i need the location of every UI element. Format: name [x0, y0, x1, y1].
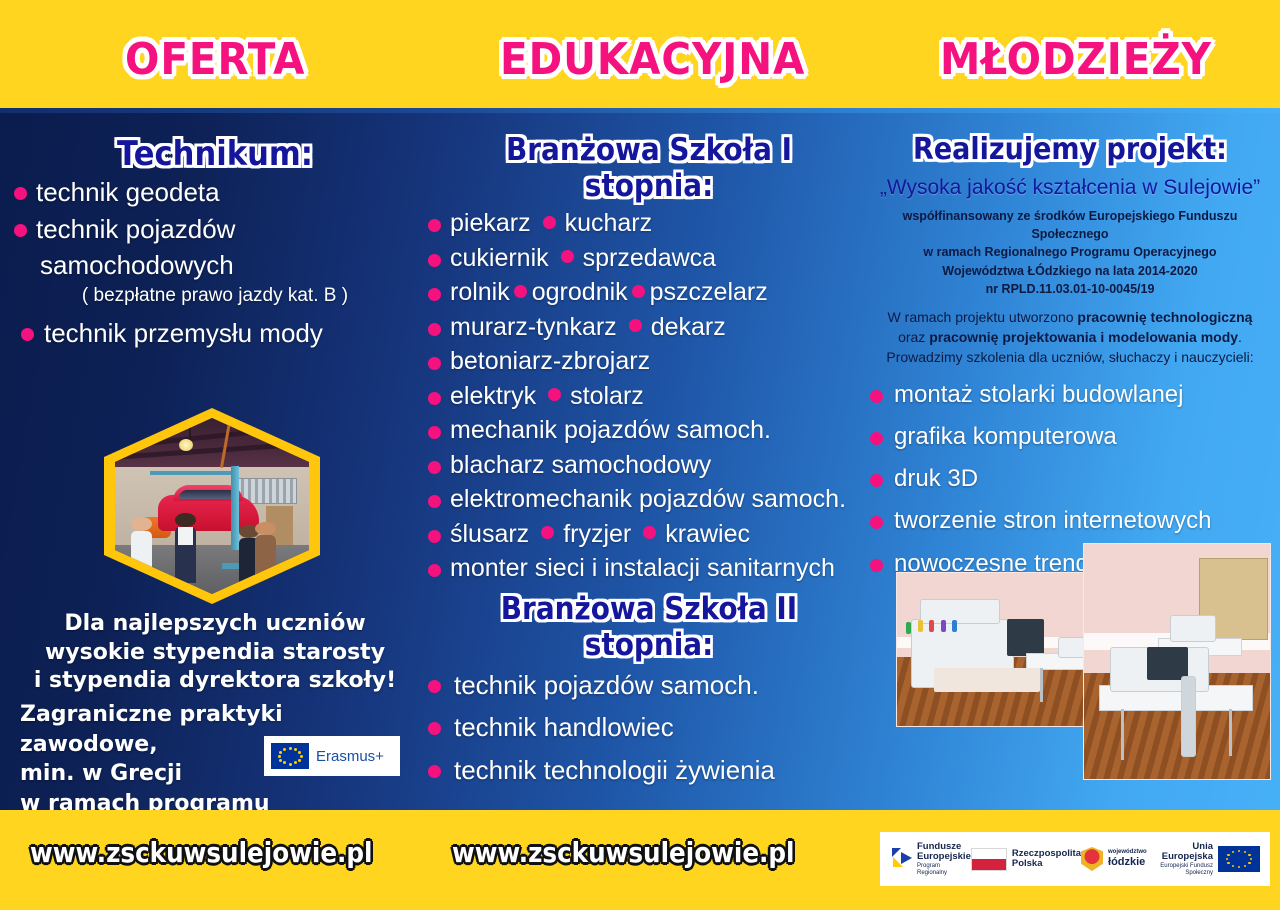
heading-technikum: Technikum:: [31, 134, 400, 174]
bullet-icon: [561, 250, 574, 263]
list-item: technik pojazdów: [10, 213, 420, 246]
bullet-icon: [632, 285, 645, 298]
footer-url-1[interactable]: www.zsckuwsulejowie.pl: [30, 836, 372, 869]
photo-person: [175, 513, 196, 583]
eu-star-icon: [1227, 862, 1230, 865]
list-item-label: rolnik: [450, 278, 510, 306]
column-technikum: Technikum: technik geodeta technik pojaz…: [10, 120, 420, 353]
unia-europejska-label: Unia Europejska Europejski Fundusz Społe…: [1147, 842, 1213, 876]
eu-star-icon: [278, 755, 281, 758]
list-item-label: dekarz: [651, 313, 726, 341]
bullet-icon: [541, 526, 554, 539]
eu-star-icon: [1248, 862, 1251, 865]
erasmus-label: Erasmus+: [316, 748, 384, 765]
column-branzowa: Branżowa Szkoła I stopnia: piekarzkuchar…: [424, 120, 874, 797]
heading-branzowa-1: Branżowa Szkoła I stopnia:: [447, 132, 852, 204]
list-item-label: stolarz: [570, 382, 644, 410]
eu-star-icon: [283, 748, 286, 751]
list-item: ślusarzfryzjerkrawiec: [424, 519, 874, 551]
list-item-label: sprzedawca: [583, 244, 716, 272]
eu-star-icon: [298, 759, 301, 762]
fineprint-line-3: Województwa ŁÓdzkiego na lata 2014-2020: [866, 262, 1274, 280]
list-item-label: monter sieci i instalacji sanitarnych: [450, 554, 835, 582]
header-word-oferta: OFERTA: [125, 34, 305, 85]
bullet-icon: [629, 319, 642, 332]
footer-url-2[interactable]: www.zsckuwsulejowie.pl: [452, 836, 794, 869]
photo-table-leg: [1229, 709, 1232, 756]
list-item: montaż stolarki budowlanej: [866, 380, 1274, 410]
logo-fundusze-europejskie: Fundusze Europejskie Program Regionalny: [890, 842, 971, 876]
eu-star-icon: [294, 761, 297, 764]
list-item: grafika komputerowa: [866, 422, 1274, 452]
projekt-title: „Wysoka jakość kształcenia w Sulejowie”: [866, 175, 1274, 200]
list-branzowa-2: technik pojazdów samoch.technik handlowi…: [424, 669, 874, 787]
fineprint-line-4: nr RPLD.11.03.01-10-0045/19: [866, 280, 1274, 298]
scholarship-line-2: wysokie stypendia starosty: [10, 639, 420, 668]
eu-flag-icon: [1218, 846, 1260, 872]
list-technikum-extra: technik przemysłu mody: [10, 317, 420, 350]
column-projekt: Realizujemy projekt: „Wysoka jakość kszt…: [866, 120, 1274, 591]
projekt-description: W ramach projektu utworzono pracownię te…: [866, 307, 1274, 368]
list-item: druk 3D: [866, 464, 1274, 494]
fineprint-line-2: w ramach Regionalnego Programu Operacyjn…: [866, 243, 1274, 261]
description-line-3: Prowadzimy szkolenia dla uczniów, słucha…: [866, 347, 1274, 367]
photo-fabric: [934, 668, 1040, 692]
list-item-label: fryzjer: [563, 520, 631, 548]
header-band: OFERTA EDUKACYJNA MŁODZIEŻY: [0, 0, 1280, 108]
photo-monitor: [1007, 619, 1044, 656]
technikum-continuation: samochodowych: [10, 250, 420, 281]
photo-thread-spool: [906, 622, 911, 634]
lodzkie-label: województwo łódzkie: [1108, 849, 1147, 868]
list-item-label: elektromechanik pojazdów samoch.: [450, 485, 846, 513]
poster-root: OFERTA EDUKACYJNA MŁODZIEŻY Technikum: t…: [0, 0, 1280, 910]
description-line-1: W ramach projektu utworzono pracownię te…: [866, 307, 1274, 327]
erasmus-logo: Erasmus+: [264, 736, 400, 776]
bullet-icon: [514, 285, 527, 298]
list-item-label: murarz-tynkarz: [450, 313, 617, 341]
photo-car-window: [179, 490, 237, 499]
photo-workshop-hexagon: [104, 408, 320, 604]
eu-star-icon: [298, 751, 301, 754]
logo-unia-europejska: Unia Europejska Europejski Fundusz Społe…: [1147, 842, 1260, 876]
list-item: piekarzkucharz: [424, 208, 874, 240]
list-item-label: blacharz samochodowy: [450, 451, 711, 479]
fundusze-europejskie-label: Fundusze Europejskie Program Regionalny: [917, 842, 971, 876]
heading-projekt: Realizujemy projekt:: [886, 132, 1253, 167]
list-item: rolnikogrodnikpszczelarz: [424, 277, 874, 309]
list-item-label: ogrodnik: [532, 278, 628, 306]
logo-rzeczpospolita-polska: Rzeczpospolita Polska: [971, 848, 1081, 871]
rzeczpospolita-label: Rzeczpospolita Polska: [1012, 849, 1081, 870]
photo-table-leg: [1040, 668, 1043, 702]
eu-flag-icon: [271, 743, 309, 769]
scholarship-line-1: Dla najlepszych uczniów: [10, 610, 420, 639]
list-item: technik geodeta: [10, 176, 420, 209]
photo-sewing-room: [1083, 543, 1271, 780]
photo-thread-spool: [918, 620, 923, 632]
photo-thread-spool: [952, 620, 957, 632]
list-item: blacharz samochodowy: [424, 450, 874, 482]
polish-flag-icon: [971, 848, 1007, 871]
heading-branzowa-2: Branżowa Szkoła II stopnia:: [447, 591, 852, 663]
list-item: mechanik pojazdów samoch.: [424, 415, 874, 447]
eu-star-icon: [279, 751, 282, 754]
eu-star-icon: [1248, 854, 1251, 857]
list-item: elektrykstolarz: [424, 381, 874, 413]
list-item: technik handlowiec: [424, 711, 874, 744]
funding-logo-strip: Fundusze Europejskie Program Regionalny …: [880, 832, 1270, 886]
eu-star-icon: [1226, 858, 1229, 861]
eu-star-icon: [289, 763, 292, 766]
eu-star-icon: [1244, 851, 1247, 854]
list-item-label: kucharz: [565, 209, 653, 237]
eu-star-icon: [1232, 865, 1235, 868]
logo-wojewodztwo-lodzkie: województwo łódzkie: [1081, 847, 1147, 871]
scholarship-line-3: i stypendia dyrektora szkoły!: [10, 667, 420, 696]
eu-star-icon: [1250, 858, 1253, 861]
photo-table-leg: [1121, 709, 1124, 761]
projekt-fineprint: współfinansowany ze środków Europejskieg…: [866, 207, 1274, 298]
fundusze-europejskie-icon: [890, 846, 912, 872]
photo-thread-spool: [929, 620, 934, 632]
eu-star-icon: [300, 755, 303, 758]
photo-lift-arm: [150, 471, 235, 475]
list-item: cukierniksprzedawca: [424, 243, 874, 275]
list-item: betoniarz-zbrojarz: [424, 346, 874, 378]
list-technikum: technik geodeta technik pojazdów: [10, 176, 420, 246]
list-item-label: ślusarz: [450, 520, 529, 548]
list-item: elektromechanik pojazdów samoch.: [424, 484, 874, 516]
lodzkie-coat-of-arms-icon: [1081, 847, 1103, 871]
eu-star-icon: [279, 759, 282, 762]
eu-star-icon: [1227, 854, 1230, 857]
scholarship-text: Dla najlepszych uczniów wysokie stypendi…: [10, 610, 420, 696]
list-item: tworzenie stron internetowych: [866, 506, 1274, 536]
list-item-label: elektryk: [450, 382, 536, 410]
eu-star-icon: [1232, 851, 1235, 854]
list-item: monter sieci i instalacji sanitarnych: [424, 553, 874, 585]
eu-star-icon: [289, 747, 292, 750]
list-item-label: cukiernik: [450, 244, 549, 272]
list-item-label: piekarz: [450, 209, 531, 237]
photo-thread-spool: [941, 620, 946, 632]
fineprint-line-1: współfinansowany ze środków Europejskieg…: [866, 207, 1274, 243]
photo-sewing-machine: [1170, 615, 1217, 643]
header-word-mlodziezy: MŁODZIEŻY: [940, 34, 1212, 85]
description-line-2: oraz pracownię projektowania i modelowan…: [866, 327, 1274, 347]
list-item: technik pojazdów samoch.: [424, 669, 874, 702]
list-item: technik przemysłu mody: [10, 317, 420, 350]
list-branzowa-1: piekarzkucharzcukierniksprzedawcarolniko…: [424, 208, 874, 585]
eu-star-icon: [1238, 850, 1241, 853]
eu-star-icon: [1244, 865, 1247, 868]
photo-lamp-stand: [1181, 676, 1196, 758]
list-item: murarz-tynkarzdekarz: [424, 312, 874, 344]
eu-star-icon: [283, 761, 286, 764]
bullet-icon: [643, 526, 656, 539]
list-item-label: mechanik pojazdów samoch.: [450, 416, 771, 444]
eu-star-icon: [1238, 866, 1241, 869]
eu-star-icon: [294, 748, 297, 751]
bullet-icon: [543, 216, 556, 229]
list-item-label: pszczelarz: [650, 278, 768, 306]
list-item-label: betoniarz-zbrojarz: [450, 347, 650, 375]
bullet-icon: [548, 388, 561, 401]
header-word-edukacyjna: EDUKACYJNA: [500, 34, 805, 85]
list-item: technik technologii żywienia: [424, 754, 874, 787]
list-item-label: krawiec: [665, 520, 750, 548]
technikum-note: ( bezpłatne prawo jazdy kat. B ): [10, 285, 420, 307]
